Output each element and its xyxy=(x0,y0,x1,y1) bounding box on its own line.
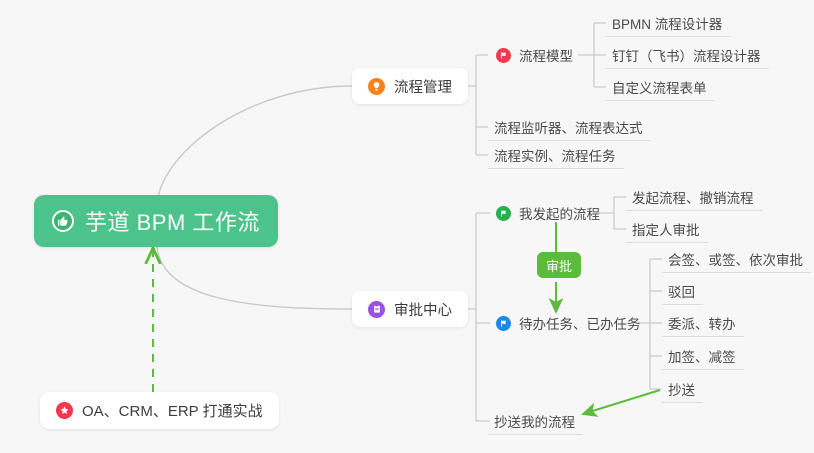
approval-annotation-label: 审批 xyxy=(546,256,572,275)
star-icon xyxy=(56,402,73,419)
node-countersign-or-sequential[interactable]: 会签、或签、依次审批 xyxy=(662,245,811,273)
lightbulb-icon xyxy=(368,78,385,95)
root-label: 芋道 BPM 工作流 xyxy=(85,205,260,237)
node-todo-done-tasks[interactable]: 待办任务、已办任务 xyxy=(490,309,649,337)
mindmap-canvas: 芋道 BPM 工作流 流程管理 流程模型 BPMN 流程设计器 钉钉（飞书）流程… xyxy=(0,0,814,453)
node-label-start-cancel-process: 发起流程、撤销流程 xyxy=(632,187,754,207)
node-label-cc-to-me-processes: 抄送我的流程 xyxy=(494,411,575,431)
node-label-add-remove-sign: 加签、减签 xyxy=(668,346,736,366)
node-label-my-initiated-processes: 我发起的流程 xyxy=(519,203,600,223)
node-assignee-approval[interactable]: 指定人审批 xyxy=(626,215,708,243)
integration-note-node[interactable]: OA、CRM、ERP 打通实战 xyxy=(40,392,279,429)
flag-icon xyxy=(496,48,511,63)
branch-label-process-management: 流程管理 xyxy=(394,76,452,97)
node-add-remove-sign[interactable]: 加签、减签 xyxy=(662,342,744,370)
branch-node-approval-center[interactable]: 审批中心 xyxy=(352,291,468,327)
node-label-custom-process-form: 自定义流程表单 xyxy=(612,77,707,97)
node-label-countersign-or-sequential: 会签、或签、依次审批 xyxy=(668,249,803,269)
node-custom-process-form[interactable]: 自定义流程表单 xyxy=(606,73,715,101)
node-my-initiated-processes[interactable]: 我发起的流程 xyxy=(490,199,608,227)
node-label-todo-done-tasks: 待办任务、已办任务 xyxy=(519,313,641,333)
branch-label-approval-center: 审批中心 xyxy=(394,299,452,320)
node-label-assignee-approval: 指定人审批 xyxy=(632,219,700,239)
node-label-carbon-copy: 抄送 xyxy=(668,379,695,399)
node-process-instance-task[interactable]: 流程实例、流程任务 xyxy=(488,141,624,169)
node-label-process-listener-expression: 流程监听器、流程表达式 xyxy=(494,117,643,137)
root-node[interactable]: 芋道 BPM 工作流 xyxy=(34,195,278,247)
node-dingtalk-feishu-designer[interactable]: 钉钉（飞书）流程设计器 xyxy=(606,41,769,69)
node-label-dingtalk-feishu-designer: 钉钉（飞书）流程设计器 xyxy=(612,45,761,65)
flag-icon xyxy=(496,206,511,221)
node-process-listener-expression[interactable]: 流程监听器、流程表达式 xyxy=(488,113,651,141)
node-delegate-transfer[interactable]: 委派、转办 xyxy=(662,309,744,337)
node-carbon-copy[interactable]: 抄送 xyxy=(662,375,703,403)
node-bpmn-designer[interactable]: BPMN 流程设计器 xyxy=(606,9,730,37)
node-label-reject: 驳回 xyxy=(668,281,695,301)
node-label-delegate-transfer: 委派、转办 xyxy=(668,313,736,333)
node-label-process-instance-task: 流程实例、流程任务 xyxy=(494,145,616,165)
approval-annotation-pill: 审批 xyxy=(537,252,581,278)
clipboard-icon xyxy=(368,301,385,318)
node-process-model[interactable]: 流程模型 xyxy=(490,41,581,69)
node-cc-to-me-processes[interactable]: 抄送我的流程 xyxy=(488,407,583,435)
node-label-process-model: 流程模型 xyxy=(519,45,573,65)
integration-note-label: OA、CRM、ERP 打通实战 xyxy=(82,400,263,421)
thumbs-up-icon xyxy=(52,210,74,232)
node-start-cancel-process[interactable]: 发起流程、撤销流程 xyxy=(626,183,762,211)
branch-node-process-management[interactable]: 流程管理 xyxy=(352,68,468,104)
flag-icon xyxy=(496,316,511,331)
node-label-bpmn-designer: BPMN 流程设计器 xyxy=(612,13,722,33)
node-reject[interactable]: 驳回 xyxy=(662,277,703,305)
